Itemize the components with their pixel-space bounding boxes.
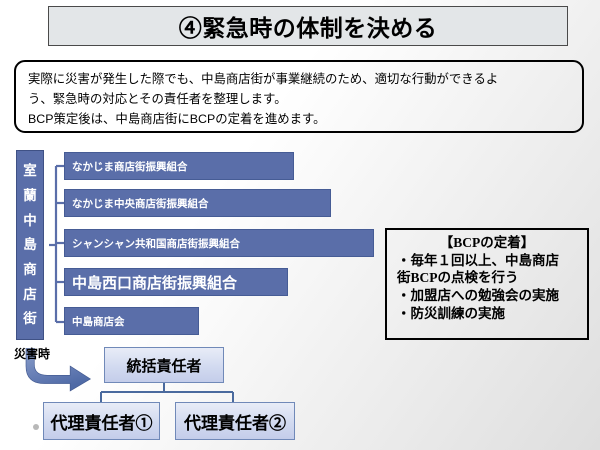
bcp-box-item: ・加盟店への勉強会の実施	[393, 287, 581, 305]
org-box-top-manager: 統括責任者	[104, 347, 224, 383]
group-label-char: 室	[23, 164, 37, 178]
group-label-char: 中	[23, 214, 37, 228]
member-bar: 中島西口商店街振興組合	[64, 268, 288, 296]
org-box-deputy-2: 代理責任者②	[175, 402, 295, 440]
member-bar: なかじま商店街振興組合	[64, 152, 294, 180]
bcp-box-item: 街BCPの点検を行う	[393, 269, 581, 287]
bcp-box-item: ・防災訓練の実施	[393, 305, 581, 323]
slide-title-box: ④緊急時の体制を決める	[48, 6, 568, 46]
member-bar: なかじま中央商店街振興組合	[64, 189, 331, 217]
member-bar: シャンシャン共和国商店街振興組合	[64, 229, 374, 257]
intro-line: BCP策定後は、中島商店街にBCPの定着を進めます。	[28, 109, 572, 129]
intro-line: う、緊急時の対応とその責任者を整理します。	[28, 89, 572, 109]
org-chart-connector	[43, 383, 298, 403]
page-title: ④緊急時の体制を決める	[179, 9, 438, 43]
bcp-establishment-box: 【BCPの定着】 ・毎年１回以上、中島商店 街BCPの点検を行う ・加盟店への勉…	[385, 228, 589, 340]
bcp-box-item: ・毎年１回以上、中島商店	[393, 252, 581, 270]
org-box-deputy-1: 代理責任者①	[43, 402, 160, 440]
group-label-char: 蘭	[23, 189, 37, 203]
group-label-char: 街	[23, 312, 37, 326]
disaster-trigger-label: 災害時	[14, 345, 50, 362]
group-label-char: 島	[23, 238, 37, 252]
group-vertical-label: 室 蘭 中 島 商 店 街	[16, 150, 44, 340]
intro-text-box: 実際に災害が発生した際でも、中島商店街が事業継続のため、適切な行動ができるよ う…	[14, 60, 584, 133]
member-bar: 中島商店会	[64, 307, 199, 335]
intro-line: 実際に災害が発生した際でも、中島商店街が事業継続のため、適切な行動ができるよ	[28, 69, 572, 89]
decorative-dot	[33, 424, 39, 430]
slide-canvas: ④緊急時の体制を決める 実際に災害が発生した際でも、中島商店街が事業継続のため、…	[0, 0, 600, 450]
group-label-char: 店	[23, 288, 37, 302]
group-label-char: 商	[23, 263, 37, 277]
bcp-box-title: 【BCPの定着】	[393, 235, 581, 252]
